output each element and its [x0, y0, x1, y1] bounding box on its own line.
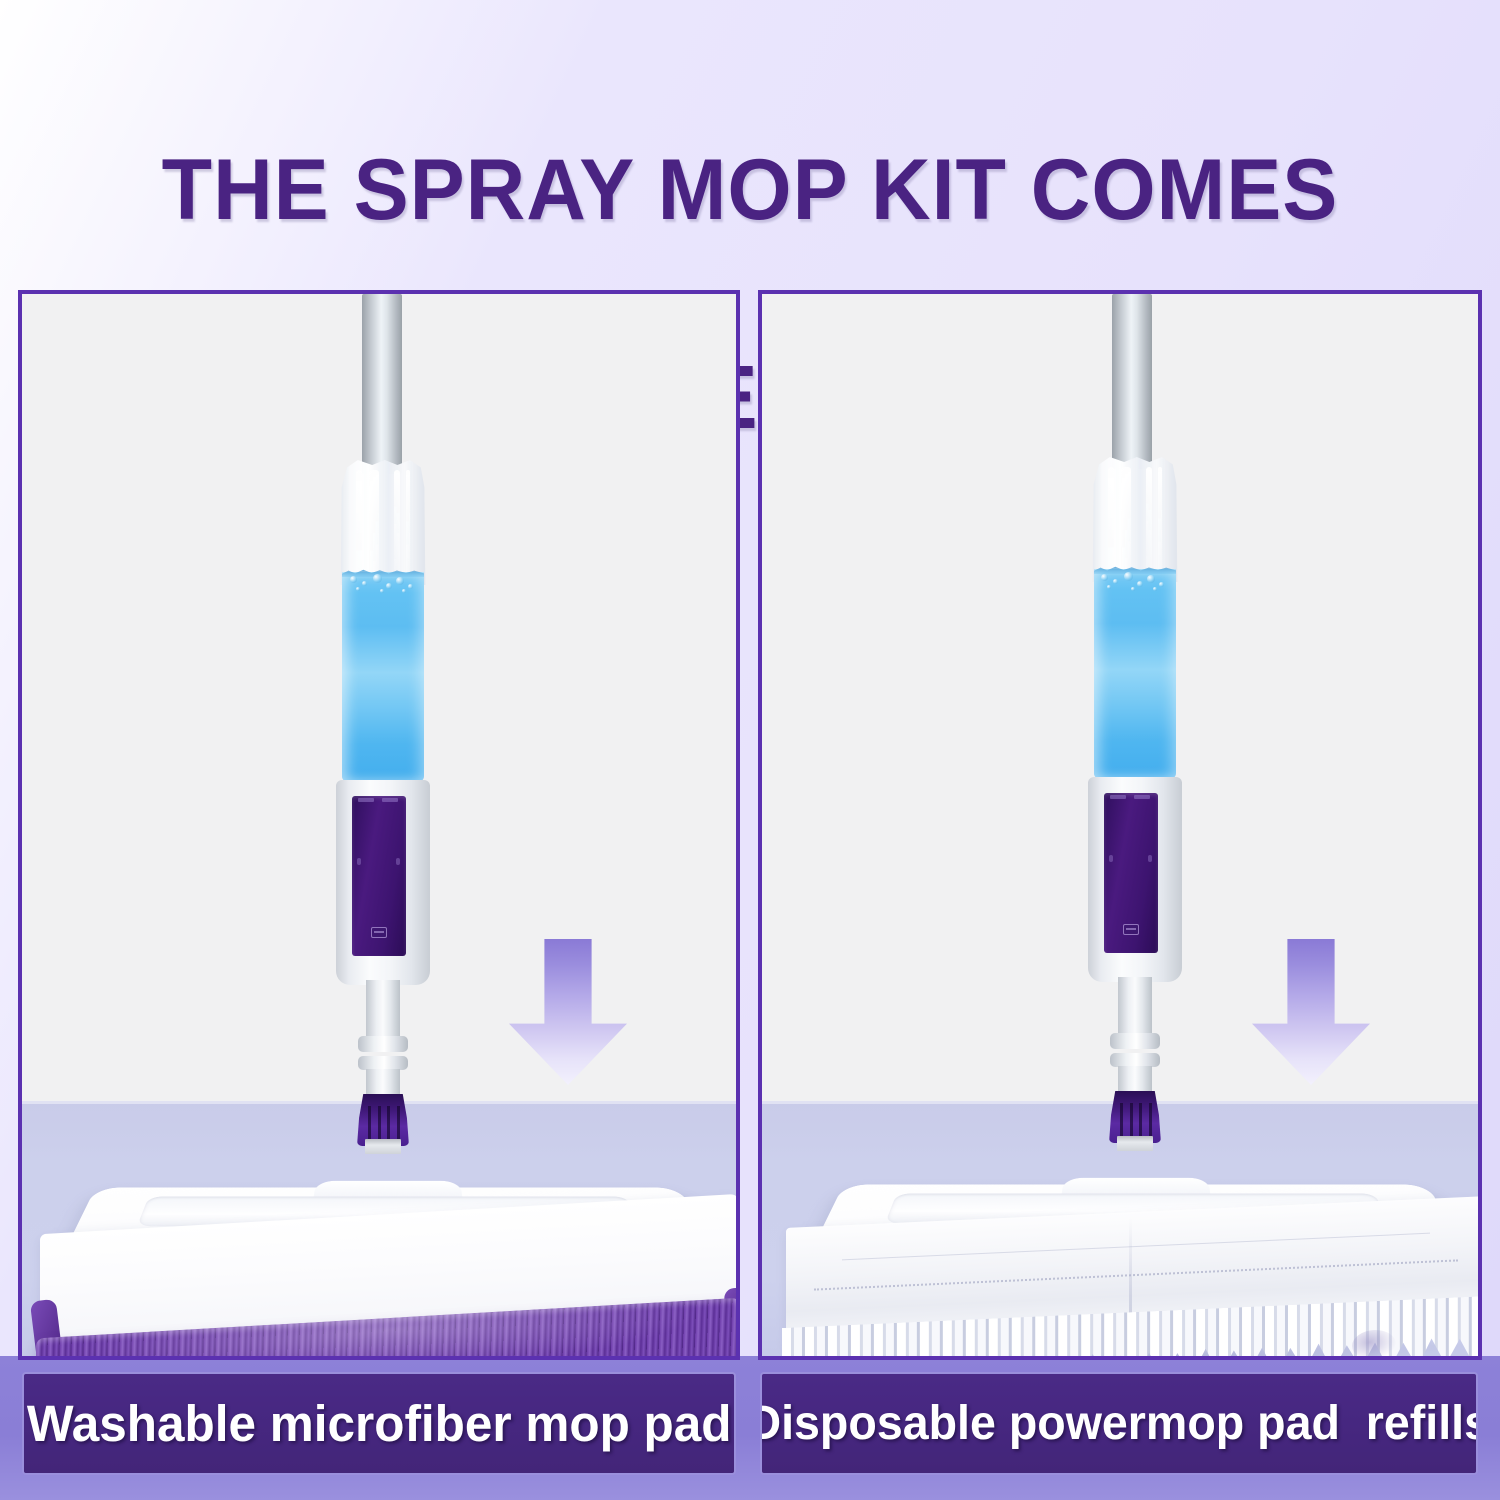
lower-shaft [1118, 977, 1152, 1037]
arrow-down-icon [1252, 939, 1370, 1085]
shaft-collar [358, 1056, 408, 1070]
washable-microfiber-pad [40, 1214, 740, 1360]
swivel-metal-plate [365, 1139, 401, 1154]
cleaning-solution-liquid [1094, 569, 1176, 779]
caption-bar-right: Disposable powermop pad refills [760, 1372, 1478, 1475]
arrow-down-icon [509, 939, 627, 1085]
title-line-1: THE SPRAY MOP KIT COMES [30, 138, 1470, 242]
caption-label-right: Disposable powermop pad refills [760, 1396, 1478, 1451]
lower-shaft [366, 980, 400, 1040]
trigger-housing [336, 780, 430, 985]
swivel-metal-plate [1117, 1136, 1153, 1151]
product-panel-right[interactable] [758, 290, 1482, 1360]
mop-pole-icon [362, 294, 402, 474]
caption-bar-left: Washable microfiber mop pad [22, 1372, 736, 1475]
trigger-panel[interactable] [1104, 793, 1158, 953]
caption-label-left: Washable microfiber mop pad [27, 1394, 732, 1453]
mop-pole-icon [1112, 294, 1152, 469]
cleaning-solution-liquid [342, 572, 424, 782]
disposable-powermop-pad [786, 1212, 1482, 1360]
water-line [342, 556, 424, 596]
trigger-panel[interactable] [352, 796, 406, 956]
spray-mop-left [218, 294, 548, 1356]
shaft-collar [1110, 1053, 1160, 1067]
shaft-collar [358, 1036, 408, 1052]
spray-mop-right [962, 294, 1292, 1356]
water-line [1094, 553, 1176, 593]
product-panel-left[interactable] [18, 290, 740, 1360]
brand-emblem-icon [371, 927, 387, 938]
brand-emblem-icon [1123, 924, 1139, 935]
trigger-housing [1088, 777, 1182, 982]
shaft-collar [1110, 1033, 1160, 1049]
infographic-canvas: THE SPRAY MOP KIT COMES WITH TWO TYPES O… [0, 0, 1500, 1500]
